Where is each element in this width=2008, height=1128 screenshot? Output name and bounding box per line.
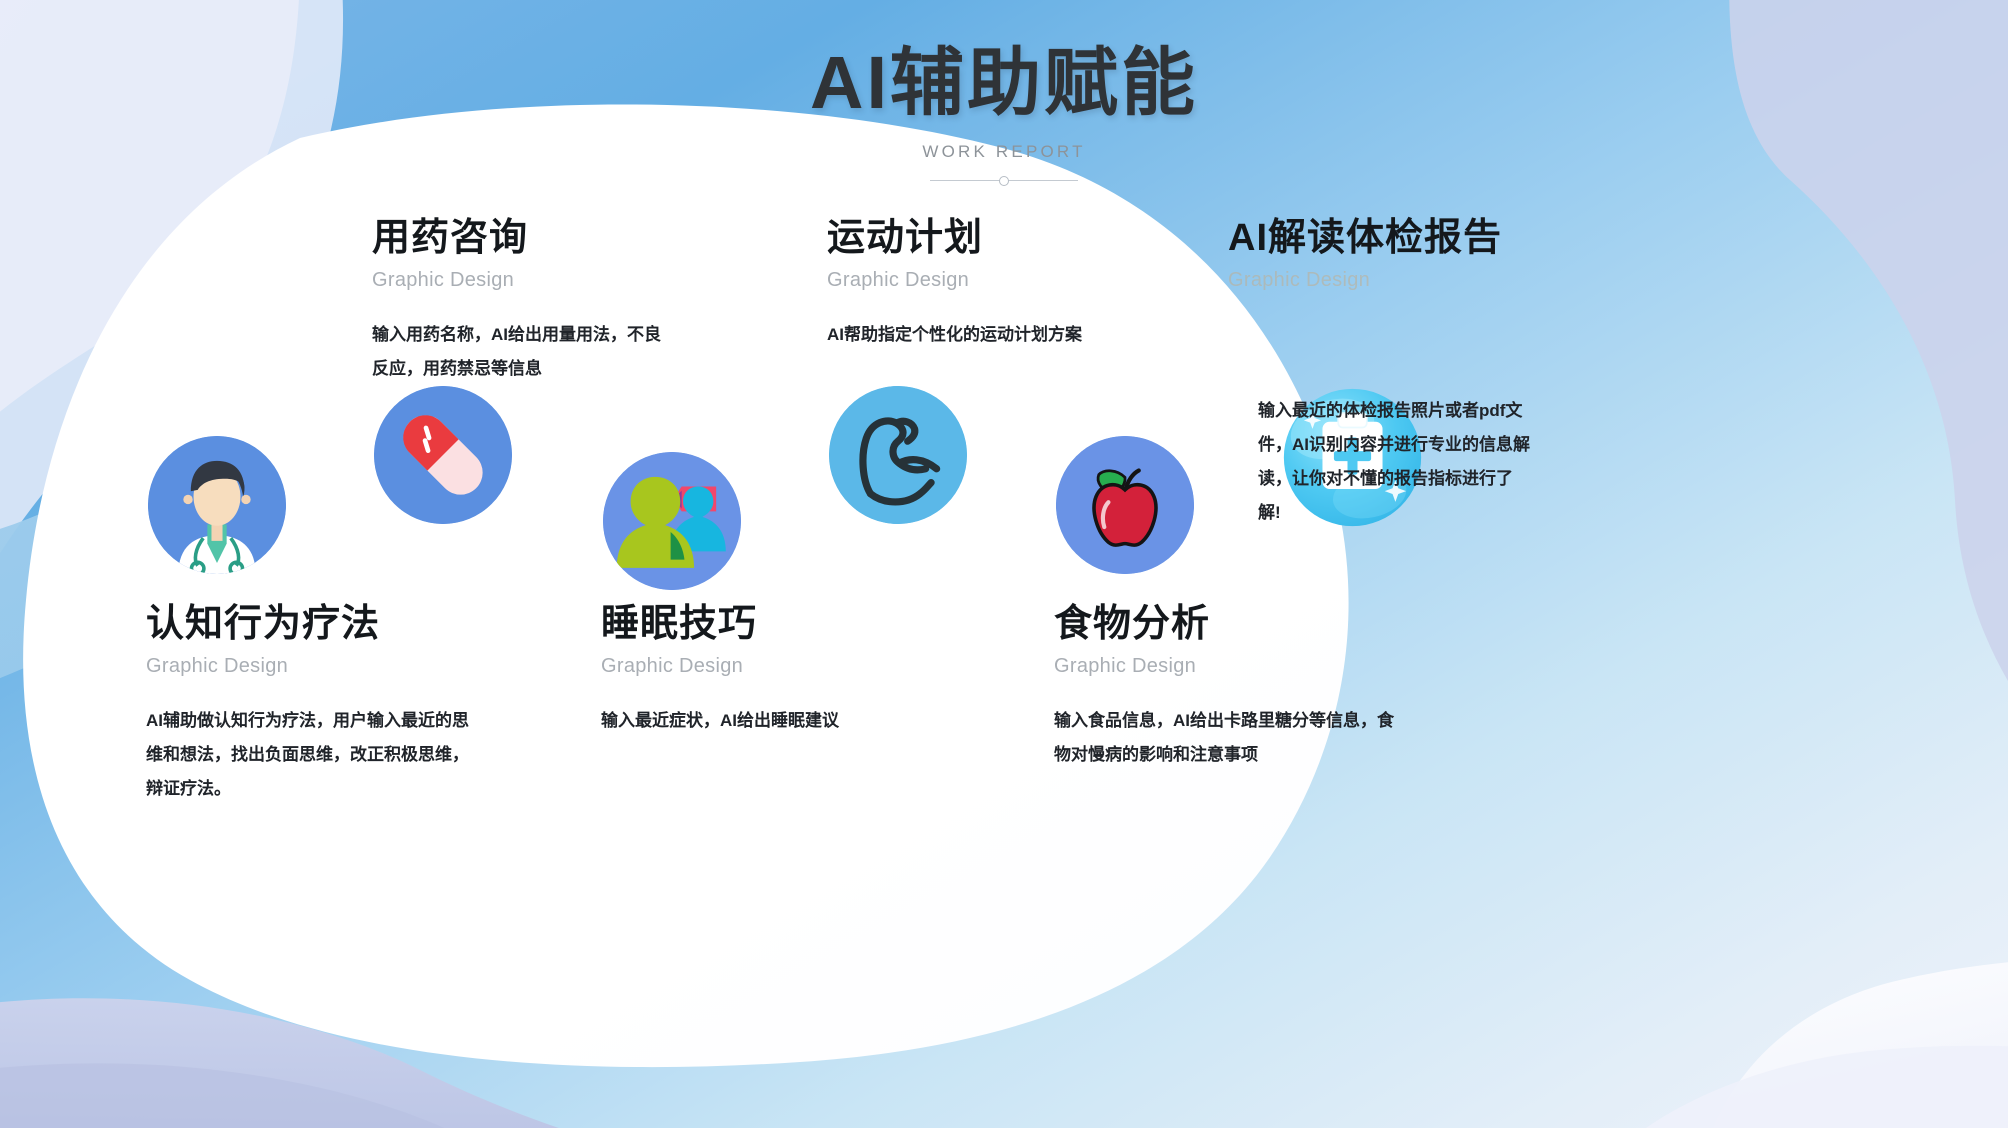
item-block-medication-consultation: 用药咨询 Graphic Design 输入用药名称，AI给出用量用法，不良反应… [372,218,672,386]
item-title: 睡眠技巧 [601,604,901,646]
item-description: 输入最近的体检报告照片或者pdf文件，AI识别内容并进行专业的信息解读，让你对不… [1258,394,1530,530]
item-title: 运动计划 [827,218,1127,260]
icon-circle-food-analysis[interactable] [1056,436,1194,574]
item-block-sleep-tips: 睡眠技巧 Graphic Design 输入最近症状，AI给出睡眠建议 [601,604,901,738]
item-title: 食物分析 [1054,604,1394,646]
item-block-ai-health-report: AI解读体检报告 Graphic Design [1228,218,1528,292]
item-block-cognitive-behavioral-therapy: 认知行为疗法 Graphic Design AI辅助做认知行为疗法，用户输入最近… [146,604,476,806]
background-decoration [0,0,2008,1128]
item-title: 认知行为疗法 [146,604,476,646]
muscle-arm-icon [829,386,967,524]
item-description: AI辅助做认知行为疗法，用户输入最近的思维和想法，找出负面思维，改正积极思维，辩… [146,704,476,806]
decor-blob-top-right [1729,0,2008,760]
icon-circle-sleep-tips[interactable] [603,452,741,590]
icon-circle-cognitive-behavioral-therapy[interactable] [148,436,286,574]
item-subtitle: Graphic Design [827,269,1127,292]
item-description: 输入用药名称，AI给出用量用法，不良反应，用药禁忌等信息 [372,318,672,386]
pill-icon [374,386,512,524]
item-subtitle: Graphic Design [601,655,901,678]
item-block-exercise-plan: 运动计划 Graphic Design AI帮助指定个性化的运动计划方案 [827,218,1127,352]
icon-circle-exercise-plan[interactable] [829,386,967,524]
item-title: AI解读体检报告 [1228,218,1528,260]
doctor-icon [148,436,286,574]
item-block-food-analysis: 食物分析 Graphic Design 输入食品信息，AI给出卡路里糖分等信息，… [1054,604,1394,772]
apple-icon [1056,436,1194,574]
item-subtitle: Graphic Design [1228,269,1528,292]
item-description-block-ai-health-report: 输入最近的体检报告照片或者pdf文件，AI识别内容并进行专业的信息解读，让你对不… [1258,394,1530,530]
item-subtitle: Graphic Design [372,269,672,292]
item-description: 输入食品信息，AI给出卡路里糖分等信息，食物对慢病的影响和注意事项 [1054,704,1394,772]
item-subtitle: Graphic Design [146,655,476,678]
item-description: 输入最近症状，AI给出睡眠建议 [601,704,901,738]
item-description: AI帮助指定个性化的运动计划方案 [827,318,1127,352]
item-subtitle: Graphic Design [1054,655,1394,678]
slide-canvas: AI辅助赋能 WORK REPORT 认知行为疗法 Graphic Design… [0,0,2008,1128]
icon-circle-medication-consultation[interactable] [374,386,512,524]
people-chat-icon [603,452,741,590]
item-title: 用药咨询 [372,218,672,260]
